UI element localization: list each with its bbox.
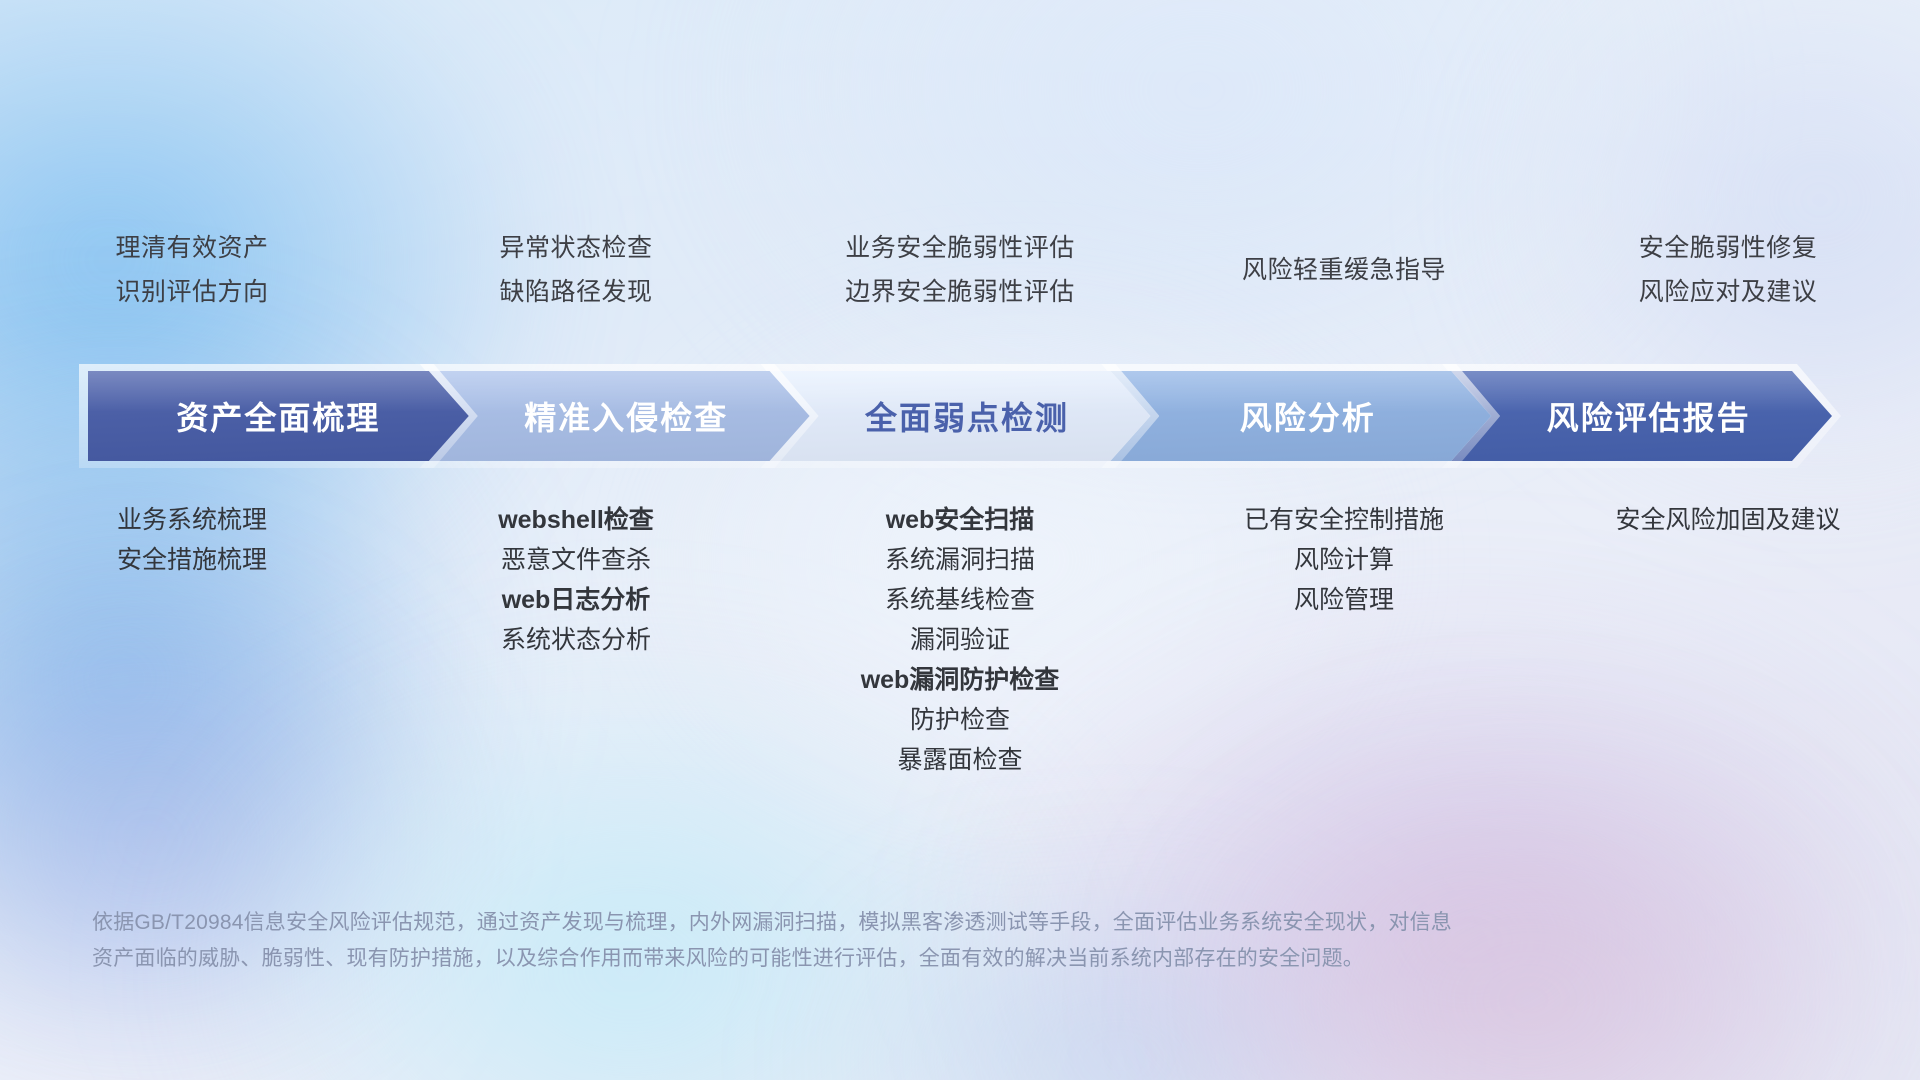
caption-text: 风险轻重缓急指导 [1242,248,1446,292]
detail-item: 系统基线检查 [885,580,1035,620]
detail-item: 系统漏洞扫描 [885,540,1035,580]
top-caption-column: 异常状态检查缺陷路径发现 [384,225,768,315]
footer-description: 依据GB/T20984信息安全风险评估规范，通过资产发现与梳理，内外网漏洞扫描，… [92,905,1572,977]
detail-item: 安全措施梳理 [117,540,267,580]
footer-line-2: 资产面临的威胁、脆弱性、现有防护措施，以及综合作用而带来风险的可能性进行评估，全… [92,941,1572,977]
detail-item: 恶意文件查杀 [501,540,651,580]
detail-item: 安全风险加固及建议 [1615,500,1840,540]
detail-item: webshell检查 [498,500,654,540]
bottom-detail-row: 业务系统梳理安全措施梳理webshell检查恶意文件查杀web日志分析系统状态分… [0,500,1920,780]
top-caption-column: 安全脆弱性修复风险应对及建议 [1536,225,1920,315]
stage-label: 风险分析 [1240,393,1376,439]
top-caption-column: 业务安全脆弱性评估边界安全脆弱性评估 [768,225,1152,315]
detail-item: 风险计算 [1294,540,1394,580]
process-stage-2[interactable]: 精准入侵检查 [429,371,810,461]
caption-text: 理清有效资产 [115,226,268,270]
footer-line-1: 依据GB/T20984信息安全风险评估规范，通过资产发现与梳理，内外网漏洞扫描，… [92,905,1572,941]
detail-column: 业务系统梳理安全措施梳理 [0,500,384,780]
caption-text: 安全脆弱性修复 [1639,226,1818,270]
top-caption-column: 理清有效资产识别评估方向 [0,225,384,315]
detail-item: 暴露面检查 [897,740,1022,780]
caption-text: 边界安全脆弱性评估 [845,270,1075,314]
caption-text: 业务安全脆弱性评估 [845,226,1075,270]
process-stage-3[interactable]: 全面弱点检测 [770,371,1151,461]
detail-item: 漏洞验证 [910,620,1010,660]
top-caption-row: 理清有效资产识别评估方向异常状态检查缺陷路径发现业务安全脆弱性评估边界安全脆弱性… [0,225,1920,315]
detail-item: 业务系统梳理 [117,500,267,540]
caption-text: 异常状态检查 [499,226,652,270]
stage-label: 资产全面梳理 [176,393,380,439]
detail-column: 安全风险加固及建议 [1536,500,1920,780]
process-stage-5[interactable]: 风险评估报告 [1451,371,1832,461]
detail-item: 风险管理 [1294,580,1394,620]
caption-text: 缺陷路径发现 [499,270,652,314]
detail-item: web安全扫描 [886,500,1035,540]
detail-item: 防护检查 [910,700,1010,740]
process-stage-1[interactable]: 资产全面梳理 [88,371,469,461]
detail-item: web漏洞防护检查 [861,660,1060,700]
detail-column: web安全扫描系统漏洞扫描系统基线检查漏洞验证web漏洞防护检查防护检查暴露面检… [768,500,1152,780]
caption-text: 风险应对及建议 [1639,270,1818,314]
detail-item: 系统状态分析 [501,620,651,660]
detail-item: web日志分析 [502,580,651,620]
stage-label: 精准入侵检查 [524,393,728,439]
process-banner: 资产全面梳理精准入侵检查全面弱点检测风险分析风险评估报告 [88,371,1832,461]
detail-column: 已有安全控制措施风险计算风险管理 [1152,500,1536,780]
stage-label: 风险评估报告 [1547,393,1751,439]
stage-label: 全面弱点检测 [865,393,1069,439]
top-caption-column: 风险轻重缓急指导 [1152,225,1536,315]
process-stage-4[interactable]: 风险分析 [1110,371,1491,461]
detail-column: webshell检查恶意文件查杀web日志分析系统状态分析 [384,500,768,780]
detail-item: 已有安全控制措施 [1244,500,1444,540]
caption-text: 识别评估方向 [115,270,268,314]
